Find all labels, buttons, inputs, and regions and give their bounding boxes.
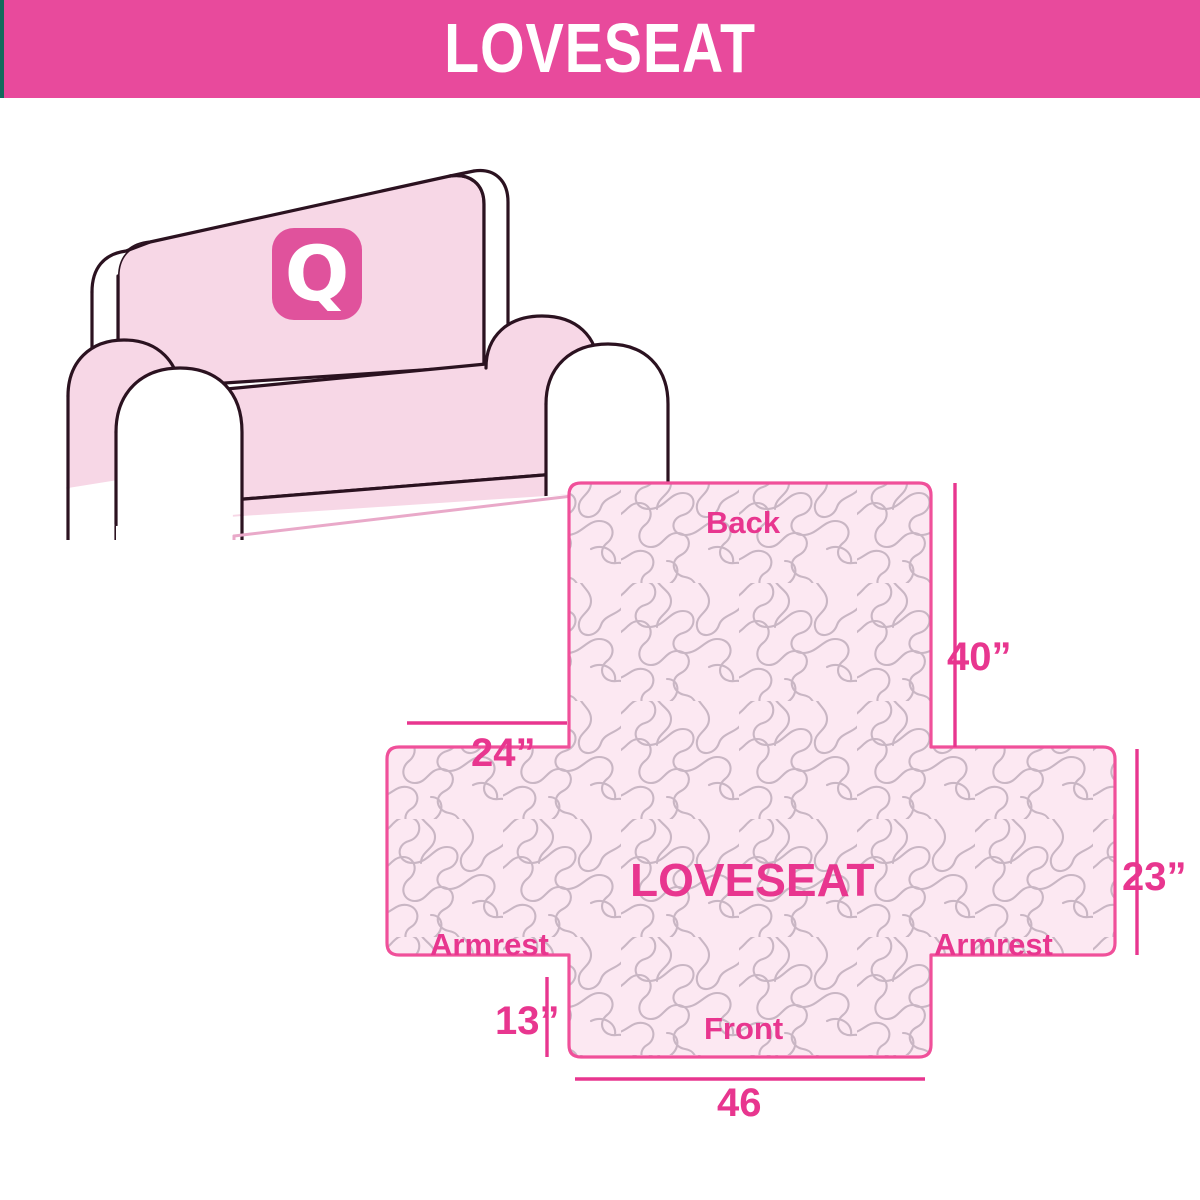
dimension-label-armrest-depth: 23” [1122, 855, 1187, 900]
dimension-label-armrest-width: 24” [471, 731, 536, 776]
header-bar: LOVESEAT [0, 0, 1200, 98]
header-edge-strip [0, 0, 4, 98]
brand-logo-letter: Q [272, 228, 362, 320]
dimension-label-front-width: 46 [717, 1081, 762, 1126]
flat-pattern-diagram [385, 465, 1200, 1155]
part-label-armrest-right: Armrest [934, 927, 1053, 963]
dimension-label-back-height: 40” [947, 635, 1012, 680]
brand-logo-badge: Q [272, 228, 362, 320]
part-label-front: Front [704, 1011, 783, 1047]
dimension-label-front-height: 13” [495, 999, 560, 1044]
part-label-back: Back [706, 505, 780, 541]
part-label-center: LOVESEAT [630, 853, 875, 907]
product-size-diagram: LOVESEAT [0, 0, 1200, 1200]
part-label-armrest-left: Armrest [430, 927, 549, 963]
page-title: LOVESEAT [108, 0, 1092, 98]
